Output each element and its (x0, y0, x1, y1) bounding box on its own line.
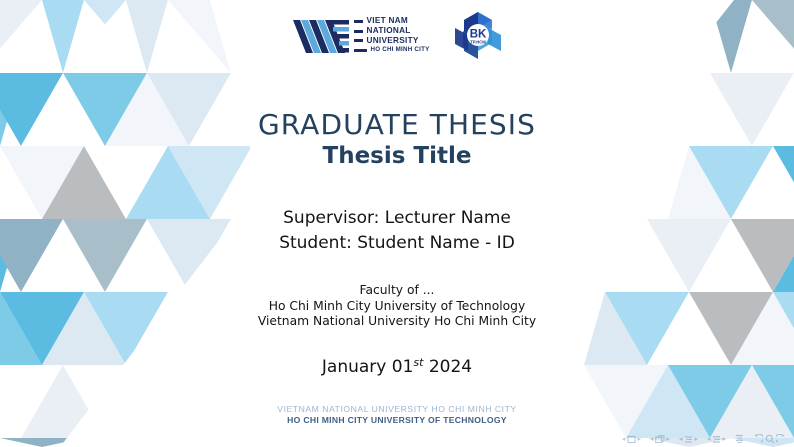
section-navigation-icon[interactable] (712, 435, 721, 444)
affiliation-block: Faculty of ... Ho Chi Minh City Universi… (0, 283, 794, 330)
vietnam-national-university-logo: VIET NAM NATIONAL UNIVERSITY HO CHI MINH… (291, 15, 430, 57)
date-line: January 01st 2024 (0, 356, 794, 377)
bk-logo-subtext: TP.HCM (470, 40, 486, 45)
vnu-line-2: NATIONAL (367, 27, 411, 36)
arrow-right-icon[interactable]: ▸ (694, 435, 698, 443)
section-navigation-group[interactable]: ◂ ▸ (707, 435, 726, 444)
people-block: Supervisor: Lecturer Name Student: Stude… (0, 206, 794, 256)
vnu-line-3: UNIVERSITY (367, 37, 419, 46)
subsection-navigation-icon[interactable] (684, 435, 693, 444)
slide-navigation-group[interactable]: ◂ ▸ (622, 435, 641, 444)
arrow-left-icon[interactable]: ◂ (622, 435, 626, 443)
date-ordinal: st (413, 356, 423, 369)
vnu-emblem-icon (291, 15, 349, 57)
frame-navigation-icon[interactable] (655, 435, 665, 444)
vnu-wordmark-line: NATIONAL (354, 27, 430, 36)
frame-navigation-group[interactable]: ◂ ▸ (650, 435, 670, 444)
page-subtitle: Thesis Title (0, 142, 794, 170)
beamer-navigation-bar[interactable]: ◂ ▸ ◂ ▸ ◂ ▸ ◂ (622, 434, 786, 444)
document-navigation-group[interactable] (753, 434, 786, 444)
page-title: GRADUATE THESIS (0, 108, 794, 142)
subsection-navigation-group[interactable]: ◂ ▸ (679, 435, 698, 444)
arrow-left-icon[interactable]: ◂ (707, 435, 711, 443)
forward-navigation-icon[interactable] (776, 434, 786, 444)
vnu-line-4: HO CHI MINH CITY (371, 46, 430, 55)
vnu-line-1: VIET NAM (367, 17, 409, 26)
arrow-left-icon[interactable]: ◂ (679, 435, 683, 443)
university-line: Ho Chi Minh City University of Technolog… (0, 299, 794, 315)
footer-line-2: HO CHI MINH CITY UNIVERSITY OF TECHNOLOG… (0, 415, 794, 426)
arrow-left-icon[interactable]: ◂ (650, 435, 654, 443)
parent-university-line: Vietnam National University Ho Chi Minh … (0, 314, 794, 330)
presentation-navigation-icon[interactable] (735, 434, 744, 444)
vnu-wordmark-line: UNIVERSITY (354, 37, 430, 46)
vnu-wordmark-line: VIET NAM (354, 17, 430, 26)
date-month: January (322, 357, 386, 377)
arrow-right-icon[interactable]: ▸ (666, 435, 670, 443)
vnu-wordmark: VIET NAM NATIONAL UNIVERSITY HO CHI MINH… (354, 17, 430, 54)
arrow-right-icon[interactable]: ▸ (722, 435, 726, 443)
presentation-slide: VIET NAM NATIONAL UNIVERSITY HO CHI MINH… (0, 0, 794, 447)
search-navigation-icon[interactable] (765, 434, 775, 444)
slide-footer: VIETNAM NATIONAL UNIVERSITY HO CHI MINH … (0, 404, 794, 426)
date-year: 2024 (429, 357, 472, 377)
vnu-bar-icon (354, 30, 363, 33)
vnu-wordmark-line: HO CHI MINH CITY (354, 46, 430, 55)
footer-line-1: VIETNAM NATIONAL UNIVERSITY HO CHI MINH … (0, 404, 794, 415)
vnu-bar-icon (354, 49, 367, 52)
presentation-navigation-group[interactable] (735, 434, 744, 444)
vnu-bar-icon (354, 20, 363, 23)
bach-khoa-logo: BK TP.HCM (452, 11, 504, 61)
faculty-line: Faculty of ... (0, 283, 794, 299)
logo-row: VIET NAM NATIONAL UNIVERSITY HO CHI MINH… (0, 11, 794, 61)
supervisor-line: Supervisor: Lecturer Name (0, 206, 794, 231)
student-line: Student: Student Name - ID (0, 231, 794, 256)
back-navigation-icon[interactable] (753, 434, 763, 444)
arrow-right-icon[interactable]: ▸ (637, 435, 641, 443)
vnu-bar-icon (354, 39, 363, 42)
slide-navigation-icon[interactable] (627, 435, 636, 444)
date-day: 01 (392, 357, 414, 377)
